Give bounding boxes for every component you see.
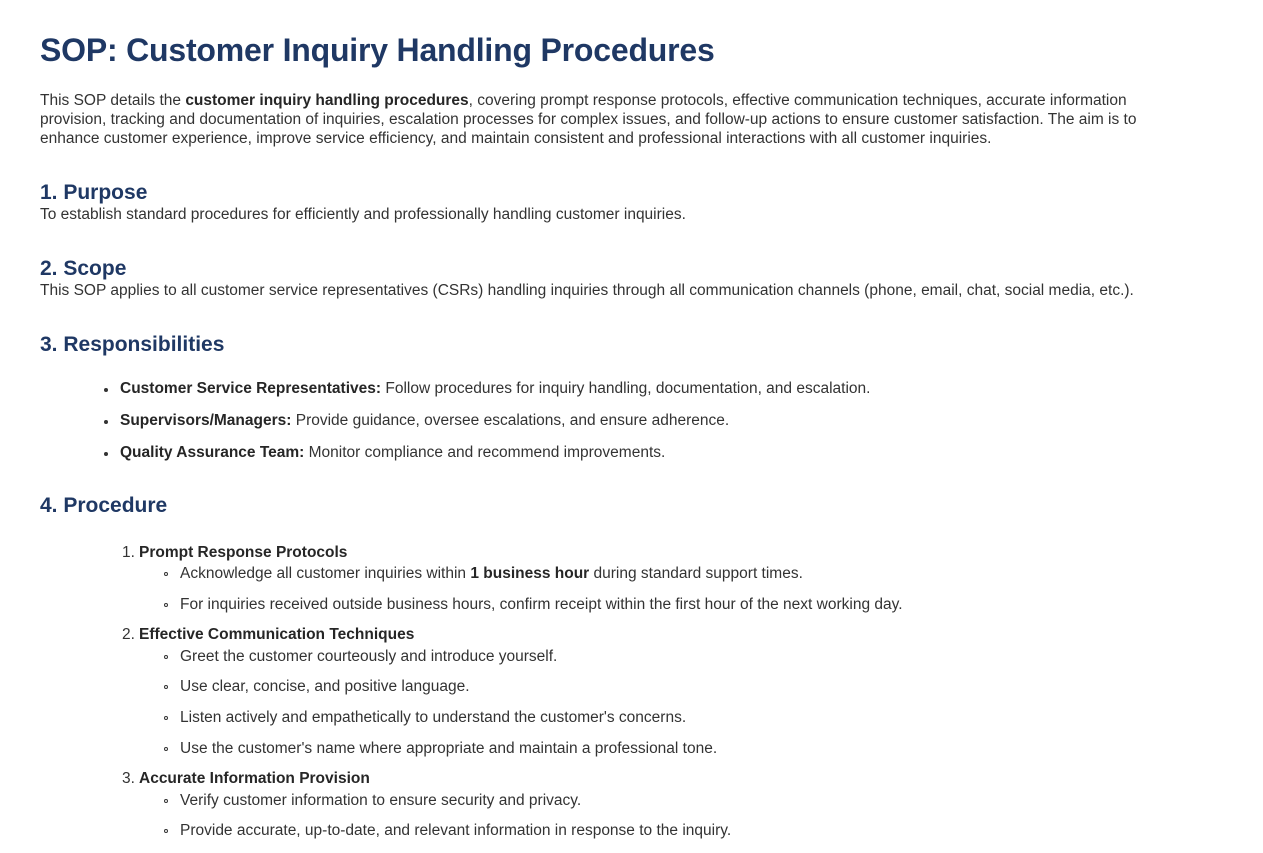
list-item: Use the customer's name where appropriat…: [139, 740, 1223, 759]
procedure-sub-list: Greet the customer courteously and intro…: [139, 648, 1223, 758]
list-item: For inquiries received outside business …: [139, 596, 1223, 615]
responsibility-role-label: Supervisors/Managers:: [120, 412, 291, 429]
list-item: Listen actively and empathetically to un…: [139, 709, 1223, 728]
subitem-text-pre: Acknowledge all customer inquiries withi…: [180, 565, 470, 582]
subitem-text-pre: For inquiries received outside business …: [180, 596, 903, 613]
procedure-step-title: Accurate Information Provision: [139, 770, 1223, 789]
procedure-step-title: Prompt Response Protocols: [139, 544, 1223, 563]
intro-paragraph: This SOP details the customer inquiry ha…: [40, 92, 1180, 149]
intro-part-1: This SOP details the: [40, 92, 185, 109]
responsibility-description: Follow procedures for inquiry handling, …: [381, 380, 870, 397]
procedure-sub-list: Acknowledge all customer inquiries withi…: [139, 565, 1223, 614]
responsibility-role-label: Quality Assurance Team:: [120, 444, 304, 461]
subitem-text-pre: Use clear, concise, and positive languag…: [180, 678, 470, 695]
section-heading-responsibilities: 3. Responsibilities: [40, 331, 1223, 358]
section-heading-purpose: 1. Purpose: [40, 179, 1223, 206]
subitem-text-bold: 1 business hour: [470, 565, 589, 582]
responsibility-description: Provide guidance, oversee escalations, a…: [291, 412, 729, 429]
section-heading-procedure: 4. Procedure: [40, 492, 1223, 519]
list-item: Quality Assurance Team: Monitor complian…: [40, 444, 1223, 463]
section-paragraph-scope: This SOP applies to all customer service…: [40, 282, 1180, 301]
document-page: SOP: Customer Inquiry Handling Procedure…: [0, 0, 1263, 841]
list-item: Use clear, concise, and positive languag…: [139, 678, 1223, 697]
subitem-text-pre: Verify customer information to ensure se…: [180, 792, 581, 809]
responsibilities-list: Customer Service Representatives: Follow…: [40, 380, 1223, 462]
list-item: Greet the customer courteously and intro…: [139, 648, 1223, 667]
subitem-text-post: during standard support times.: [589, 565, 803, 582]
procedure-step-title: Effective Communication Techniques: [139, 626, 1223, 645]
subitem-text-pre: Listen actively and empathetically to un…: [180, 709, 686, 726]
list-item: Verify customer information to ensure se…: [139, 792, 1223, 811]
subitem-text-pre: Provide accurate, up-to-date, and releva…: [180, 822, 731, 839]
list-item: Customer Service Representatives: Follow…: [40, 380, 1223, 399]
section-heading-scope: 2. Scope: [40, 255, 1223, 282]
responsibility-description: Monitor compliance and recommend improve…: [304, 444, 665, 461]
procedure-list: Prompt Response Protocols Acknowledge al…: [40, 544, 1223, 842]
responsibility-role-label: Customer Service Representatives:: [120, 380, 381, 397]
subitem-text-pre: Use the customer's name where appropriat…: [180, 740, 717, 757]
list-item: Supervisors/Managers: Provide guidance, …: [40, 412, 1223, 431]
procedure-step: Prompt Response Protocols Acknowledge al…: [40, 544, 1223, 615]
list-item: Provide accurate, up-to-date, and releva…: [139, 822, 1223, 841]
list-item: Acknowledge all customer inquiries withi…: [139, 565, 1223, 584]
procedure-sub-list: Verify customer information to ensure se…: [139, 792, 1223, 841]
section-paragraph-purpose: To establish standard procedures for eff…: [40, 206, 1180, 225]
document-title: SOP: Customer Inquiry Handling Procedure…: [40, 30, 1223, 70]
subitem-text-pre: Greet the customer courteously and intro…: [180, 648, 557, 665]
intro-bold-phrase: customer inquiry handling procedures: [185, 92, 468, 109]
procedure-step: Effective Communication Techniques Greet…: [40, 626, 1223, 758]
